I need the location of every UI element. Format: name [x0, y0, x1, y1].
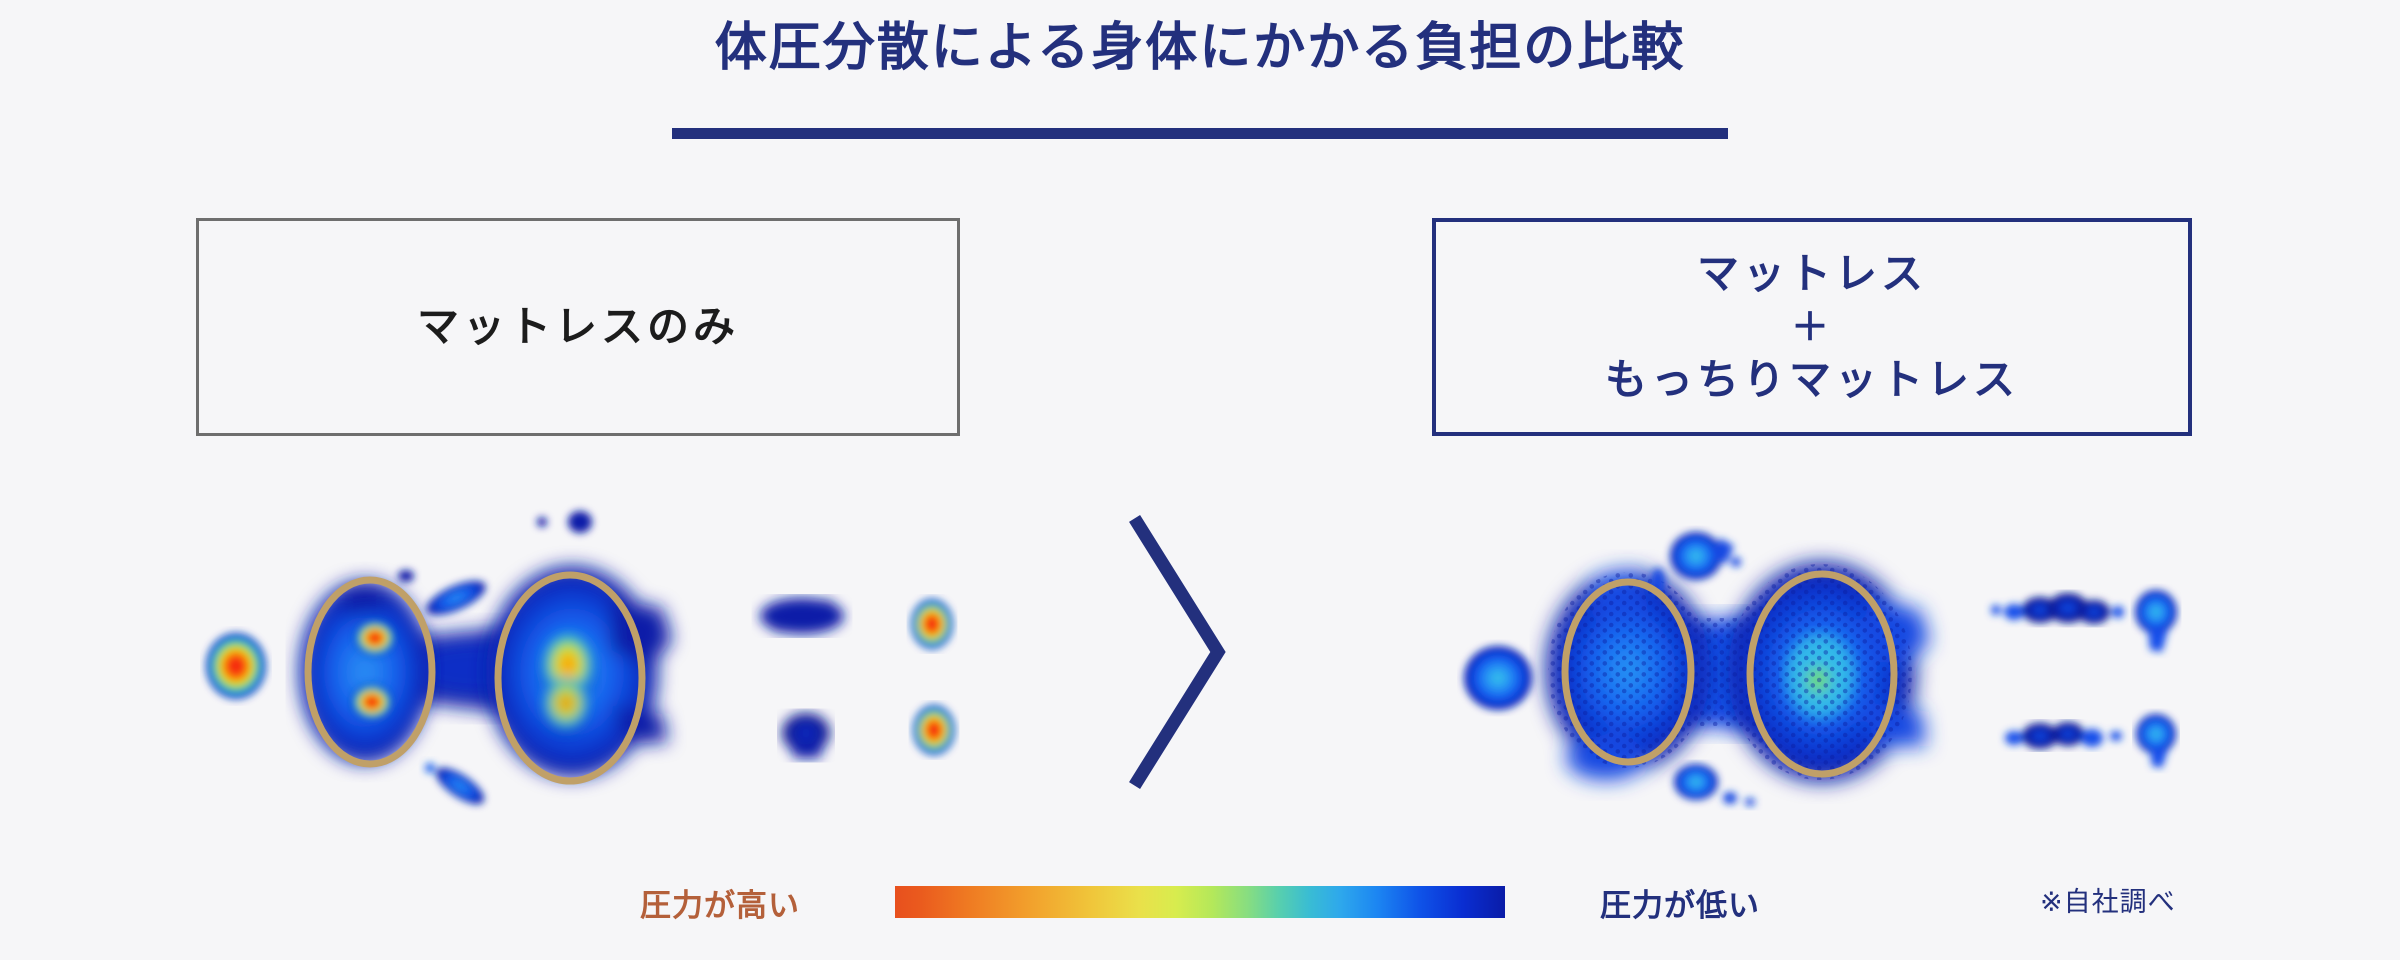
panel-header-right-label: マットレス ＋ もっちりマットレス	[1605, 245, 2019, 409]
panel-header-mattress-plus-topper: マットレス ＋ もっちりマットレス	[1432, 218, 2192, 436]
legend-label-low: 圧力が低い	[1600, 880, 1760, 925]
region-foot	[782, 713, 830, 758]
region-heel-lower	[2136, 714, 2176, 768]
title-underline	[672, 128, 1728, 139]
region-calf	[760, 598, 844, 634]
pressure-map-right-svg	[1400, 490, 2200, 830]
comparison-figure: 体圧分散による身体にかかる負担の比較 マットレスのみ マットレス ＋ もっちりマ…	[0, 0, 2400, 960]
region-head	[1464, 646, 1532, 710]
panel-header-left-label: マットレスのみ	[417, 298, 739, 356]
panel-header-right-line1: マットレス	[1605, 245, 2019, 303]
legend-label-high: 圧力が高い	[640, 880, 800, 925]
comparator-greater-than	[1120, 512, 1240, 792]
region-heel-lower	[913, 705, 955, 755]
region-calf-upper	[1991, 593, 2124, 624]
chevron-right-icon	[1120, 512, 1240, 792]
region-fragments-lower	[1674, 764, 1755, 806]
panel-header-mattress-only: マットレスのみ	[196, 218, 960, 436]
region-heel-upper	[2135, 590, 2177, 652]
pressure-map-mattress-plus-topper	[1400, 490, 2200, 830]
pressure-legend-inner: 圧力が高い 圧力が低い	[640, 876, 1760, 928]
footnote-source: ※自社調べ	[2040, 880, 2176, 919]
region-heel-upper	[911, 599, 953, 649]
pressure-map-left-svg	[180, 490, 980, 830]
region-hip-hotspot	[540, 632, 596, 734]
region-head	[206, 633, 266, 699]
legend-gradient-bar	[895, 886, 1505, 918]
panel-header-right-line2: もっちりマットレス	[1605, 351, 2019, 409]
page-title-wrap: 体圧分散による身体にかかる負担の比較	[0, 16, 2400, 80]
page-title: 体圧分散による身体にかかる負担の比較	[715, 16, 1685, 80]
region-fragments-lower	[425, 761, 489, 811]
pressure-map-mattress-only	[180, 490, 980, 830]
panel-header-right-plus: ＋	[1605, 303, 2019, 351]
region-calf-lower	[2005, 722, 2122, 749]
region-fragments-upper	[1651, 532, 1741, 596]
